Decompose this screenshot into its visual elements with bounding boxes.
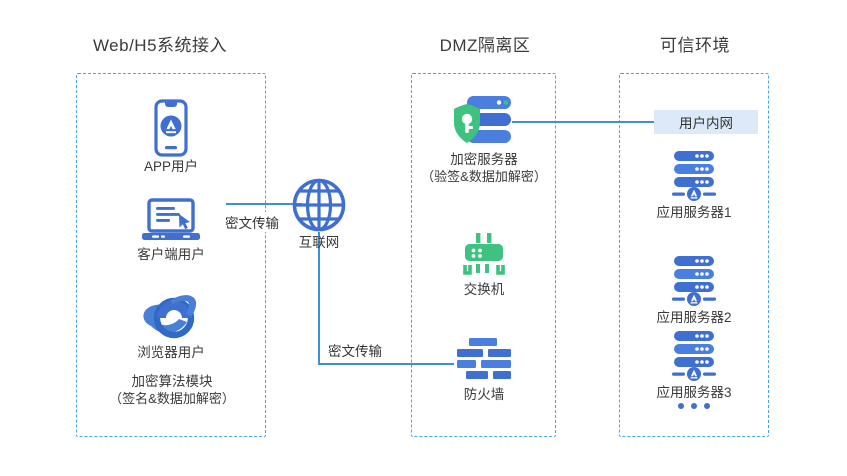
mobile-phone-icon: [111, 98, 231, 158]
node-label: 加密服务器: [404, 151, 564, 168]
zone-title-dmz: DMZ隔离区: [405, 31, 565, 56]
zone-title-trusted: 可信环境: [615, 31, 775, 56]
internet-explorer-icon: [111, 292, 231, 344]
intranet-banner-label: 用户内网: [679, 112, 733, 132]
node-label: 浏览器用户: [111, 344, 231, 361]
node-app-user[interactable]: APP用户: [111, 98, 231, 175]
node-label: 交换机: [434, 281, 534, 298]
encryption-server-icon: [404, 93, 564, 151]
node-firewall[interactable]: 防火墙: [434, 336, 534, 403]
node-app-server-1[interactable]: 应用服务器1: [644, 150, 744, 221]
node-label: 客户端用户: [111, 246, 231, 263]
node-label: 应用服务器2: [644, 309, 744, 326]
node-label: 防火墙: [434, 386, 534, 403]
node-label: 应用服务器3: [644, 384, 744, 401]
firewall-icon: [434, 336, 534, 386]
node-switch[interactable]: 交换机: [434, 233, 534, 298]
node-browser-user[interactable]: 浏览器用户: [111, 292, 231, 361]
web-footer-note: 加密算法模块 （签名&数据加解密）: [86, 373, 258, 407]
diagram-canvas: Web/H5系统接入 DMZ隔离区 可信环境 密文传输 密文传输 APP用户: [0, 0, 847, 476]
node-app-server-3[interactable]: 应用服务器3: [644, 330, 744, 401]
app-server-icon: [644, 330, 744, 384]
web-footer-line2: （签名&数据加解密）: [86, 390, 258, 407]
node-label: APP用户: [111, 158, 231, 175]
node-internet[interactable]: 互联网: [273, 176, 365, 251]
node-app-server-2[interactable]: 应用服务器2: [644, 255, 744, 326]
zone-title-web: Web/H5系统接入: [40, 31, 280, 56]
web-footer-line1: 加密算法模块: [86, 373, 258, 390]
node-label: 应用服务器1: [644, 204, 744, 221]
connector-internet-down: [318, 232, 320, 364]
laptop-icon: [111, 196, 231, 246]
node-sublabel: （验签&数据加解密）: [404, 168, 564, 185]
node-client-user[interactable]: 客户端用户: [111, 196, 231, 263]
app-server-icon: [644, 150, 744, 204]
node-encryption-server[interactable]: 加密服务器 （验签&数据加解密）: [404, 93, 564, 185]
connector-label-ciphertext-bottom: 密文传输: [325, 340, 385, 360]
switch-icon: [434, 233, 534, 281]
app-server-icon: [644, 255, 744, 309]
globe-icon: [273, 176, 365, 234]
intranet-banner: 用户内网: [654, 110, 758, 134]
app-server-more-indicator: [678, 403, 710, 409]
node-label: 互联网: [273, 234, 365, 251]
